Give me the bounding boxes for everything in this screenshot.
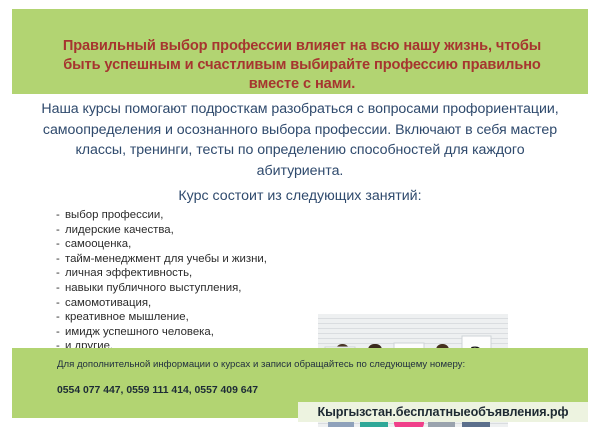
list-item-label: выбор профессии, [65,209,163,221]
list-item: -навыки публичного выступления, [56,281,306,296]
body-area: Наша курсы помогают подросткам разобрать… [0,94,600,348]
list-item-label: навыки публичного выступления, [65,282,241,294]
dash-bullet: - [56,208,65,223]
list-item: -выбор профессии, [56,208,306,223]
watermark-badge: Кыргызстан.бесплатныеобъявления.рф [298,402,588,422]
dash-bullet: - [56,310,65,325]
list-item-label: самомотивация, [65,297,151,309]
dash-bullet: - [56,223,65,238]
list-item-label: самооценка, [65,238,131,250]
contact-instruction: Для дополнительной информации о курсах и… [57,358,465,371]
list-item: -личная эффективность, [56,266,306,281]
contact-phone-numbers[interactable]: 0554 077 447, 0559 111 414, 0557 409 647 [57,384,258,397]
dash-bullet: - [56,325,65,340]
advertisement-page: Правильный выбор профессии влияет на всю… [0,0,600,427]
watermark-text: Кыргызстан.бесплатныеобъявления.рф [318,405,569,419]
list-item-label: креативное мышление, [65,311,189,323]
list-item-label: имидж успешного человека, [65,326,214,338]
list-item-label: личная эффективность, [65,267,192,279]
headline-band: Правильный выбор профессии влияет на всю… [12,9,588,94]
list-item-label: лидерские качества, [65,224,174,236]
list-item: -самомотивация, [56,296,306,311]
intro-paragraph: Наша курсы помогают подросткам разобрать… [40,99,560,181]
dash-bullet: - [56,252,65,267]
list-item: -лидерские качества, [56,223,306,238]
dash-bullet: - [56,296,65,311]
dash-bullet: - [56,281,65,296]
dash-bullet: - [56,237,65,252]
list-item: -креативное мышление, [56,310,306,325]
list-item: -тайм-менеджмент для учебы и жизни, [56,252,306,267]
list-item-label: тайм-менеджмент для учебы и жизни, [65,253,267,265]
headline-text: Правильный выбор профессии влияет на всю… [52,37,552,94]
list-item: -имидж успешного человека, [56,325,306,340]
list-item: -самооценка, [56,237,306,252]
topic-list: -выбор профессии, -лидерские качества, -… [56,208,306,354]
course-lead-text: Курс состоит из следующих занятий: [40,186,560,206]
dash-bullet: - [56,266,65,281]
